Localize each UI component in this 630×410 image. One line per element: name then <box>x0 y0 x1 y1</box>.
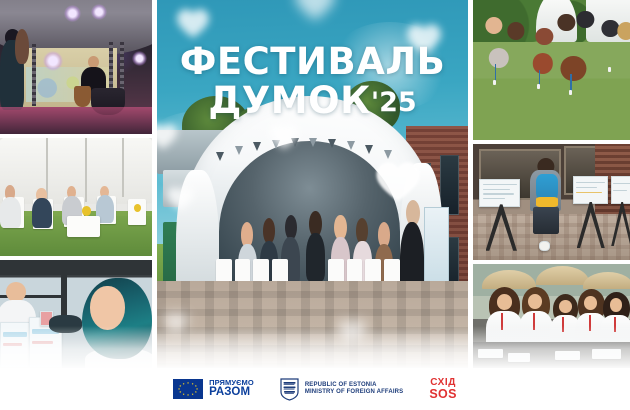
eu-star-icon <box>182 393 184 395</box>
eu-star-icon <box>182 383 184 385</box>
skhid-sos-logo-text: СХІД SOS <box>429 378 457 401</box>
festival-dome-tent-photo <box>157 0 468 370</box>
festival-poster: ФЕСТИВАЛЬ ДУМОК'25 ПРЯМУЄМО РАЗОМ <box>0 0 630 410</box>
eu-star-icon <box>187 394 189 396</box>
eu-star-icon <box>195 385 197 387</box>
eu-star-icon <box>191 393 193 395</box>
eu-star-icon <box>179 385 181 387</box>
skhid-sos-logo: СХІД SOS <box>429 378 457 401</box>
eu-star-icon <box>187 382 189 384</box>
eu-pryamuemo-razom-logo: ПРЯМУЄМО РАЗОМ <box>173 379 254 399</box>
panel-discussion-photo <box>0 138 152 256</box>
eu-star-icon <box>191 383 193 385</box>
sponsor-logo-bar: ПРЯМУЄМО РАЗОМ REPUBLIC OF ESTONIA MINIS… <box>0 368 630 410</box>
estonia-logo-line-2: MINISTRY OF FOREIGN AFFAIRS <box>305 389 404 396</box>
registration-desk-photo <box>0 260 152 370</box>
estonia-logo-text: REPUBLIC OF ESTONIA MINISTRY OF FOREIGN … <box>305 382 404 396</box>
skhid-sos-line-2: SOS <box>429 388 457 401</box>
volunteers-team-photo <box>473 264 630 370</box>
eu-star-icon <box>196 388 198 390</box>
stage-concert-photo <box>0 0 152 134</box>
estonia-logo-line-1: REPUBLIC OF ESTONIA <box>305 382 404 389</box>
eu-star-icon <box>179 391 181 393</box>
eu-star-icon <box>195 391 197 393</box>
outdoor-exhibition-photo <box>473 144 630 260</box>
eu-logo-text: ПРЯМУЄМО РАЗОМ <box>209 379 254 399</box>
eu-logo-line-2: РАЗОМ <box>209 387 254 399</box>
eu-star-icon <box>178 388 180 390</box>
estonia-ministry-of-foreign-affairs-logo: REPUBLIC OF ESTONIA MINISTRY OF FOREIGN … <box>280 378 404 401</box>
crowd-attendees-photo <box>473 0 630 140</box>
estonia-coat-of-arms-icon <box>280 378 299 401</box>
eu-flag-icon <box>173 379 203 399</box>
